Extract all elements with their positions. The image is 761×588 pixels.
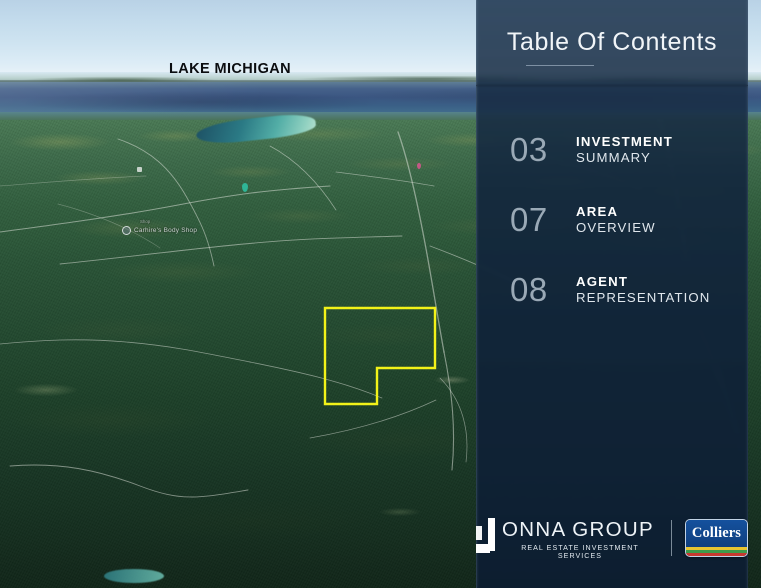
toc-item-area-overview[interactable]: 07 AREA OVERVIEW [476,185,748,255]
toc-item-line1: AREA [576,204,656,220]
title-underline-rule [526,65,594,66]
colliers-stripe-red [686,553,747,556]
jonna-j-mark-icon [476,518,498,553]
jonna-name: ONNA GROUP [502,520,658,541]
toc-item-line2: SUMMARY [576,150,673,166]
colliers-wordmark: Colliers [686,520,747,547]
colliers-logo[interactable]: Colliers [685,519,748,557]
lake-michigan-label: LAKE MICHIGAN [0,61,460,77]
jonna-tagline: REAL ESTATE INVESTMENT SERVICES [502,544,658,560]
jonna-j-notch [476,526,482,540]
toc-item-agent-representation[interactable]: 08 AGENT REPRESENTATION [476,255,748,325]
toc-item-investment-summary[interactable]: 03 INVESTMENT SUMMARY [476,115,748,185]
map-poi-marker[interactable]: Carhire's Body Shop [122,226,197,235]
jonna-group-logo[interactable]: ONNA GROUP REAL ESTATE INVESTMENT SERVIC… [476,516,658,560]
toc-item-number: 03 [510,131,576,169]
toc-list: 03 INVESTMENT SUMMARY 07 AREA OVERVIEW 0… [476,115,748,325]
toc-item-line1: INVESTMENT [576,134,673,150]
map-pin-icon [122,226,131,235]
map-poi-label: Carhire's Body Shop [134,227,197,234]
logo-divider [671,520,672,556]
toc-item-label: AGENT REPRESENTATION [576,274,710,305]
toc-item-line2: REPRESENTATION [576,290,710,306]
toc-item-line1: AGENT [576,274,710,290]
page-title: Table Of Contents [476,28,748,57]
toc-item-label: AREA OVERVIEW [576,204,656,235]
map-poi-category: Shop [140,219,150,224]
toc-item-line2: OVERVIEW [576,220,656,236]
toc-item-number: 08 [510,271,576,309]
slide-table-of-contents: Carhire's Body Shop Shop LAKE MICHIGAN T… [0,0,761,588]
jonna-wordmark: ONNA GROUP REAL ESTATE INVESTMENT SERVIC… [502,516,658,560]
colliers-stripe-bar [686,547,747,556]
footer-logo-lockup: ONNA GROUP REAL ESTATE INVESTMENT SERVIC… [476,512,748,564]
map-building-marker-icon [137,167,142,172]
parcel-boundary-outline [320,300,440,410]
toc-item-label: INVESTMENT SUMMARY [576,134,673,165]
jonna-j-foot [476,544,490,553]
panel-content: Table Of Contents 03 INVESTMENT SUMMARY … [476,0,748,588]
toc-item-number: 07 [510,201,576,239]
